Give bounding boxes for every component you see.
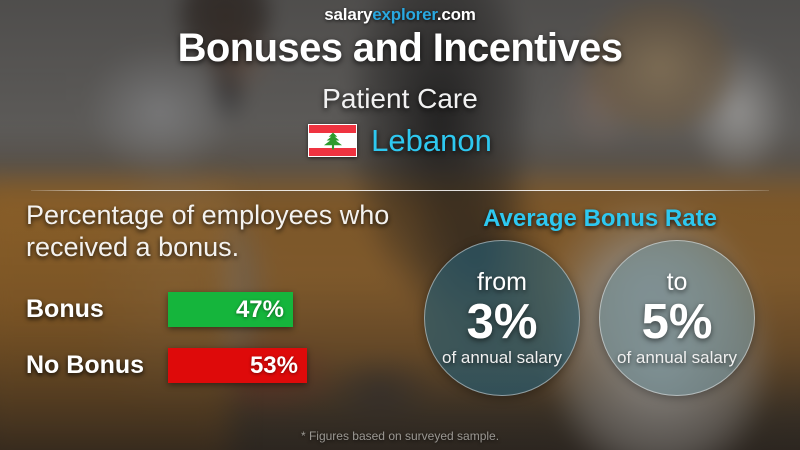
country-row: Lebanon xyxy=(0,124,800,157)
lebanon-flag-icon xyxy=(308,124,357,157)
bar-label-bonus: Bonus xyxy=(26,297,168,322)
right-panel-heading: Average Bonus Rate xyxy=(420,205,780,233)
circle-to-prefix: to xyxy=(667,270,688,295)
site-brand[interactable]: salaryexplorer.com xyxy=(0,5,800,25)
circle-from-sublabel: of annual salary xyxy=(442,349,562,366)
bonus-rate-circle-to: to 5% of annual salary xyxy=(599,240,755,396)
circle-to-sublabel: of annual salary xyxy=(617,349,737,366)
bar-label-no-bonus: No Bonus xyxy=(26,353,168,378)
section-divider xyxy=(31,190,769,191)
country-name: Lebanon xyxy=(371,125,492,156)
infographic-canvas: salaryexplorer.com Bonuses and Incentive… xyxy=(0,0,800,450)
bar-row-bonus: Bonus 47% xyxy=(26,292,293,327)
bar-row-no-bonus: No Bonus 53% xyxy=(26,348,307,383)
left-panel-heading: Percentage of employees who received a b… xyxy=(26,200,446,264)
bar-value-bonus: 47% xyxy=(168,292,293,327)
bonus-rate-circle-from: from 3% of annual salary xyxy=(424,240,580,396)
page-title: Bonuses and Incentives xyxy=(0,26,800,71)
brand-part-domain: .com xyxy=(437,5,476,24)
circle-from-value: 3% xyxy=(467,297,538,348)
circle-to-value: 5% xyxy=(642,297,713,348)
cedar-tree-icon xyxy=(322,132,344,150)
brand-part-explorer: explorer xyxy=(372,5,437,24)
footnote: * Figures based on surveyed sample. xyxy=(0,429,800,443)
page-subtitle: Patient Care xyxy=(0,83,800,115)
brand-part-salary: salary xyxy=(324,5,372,24)
circle-from-prefix: from xyxy=(477,270,527,295)
bar-value-no-bonus: 53% xyxy=(168,348,307,383)
